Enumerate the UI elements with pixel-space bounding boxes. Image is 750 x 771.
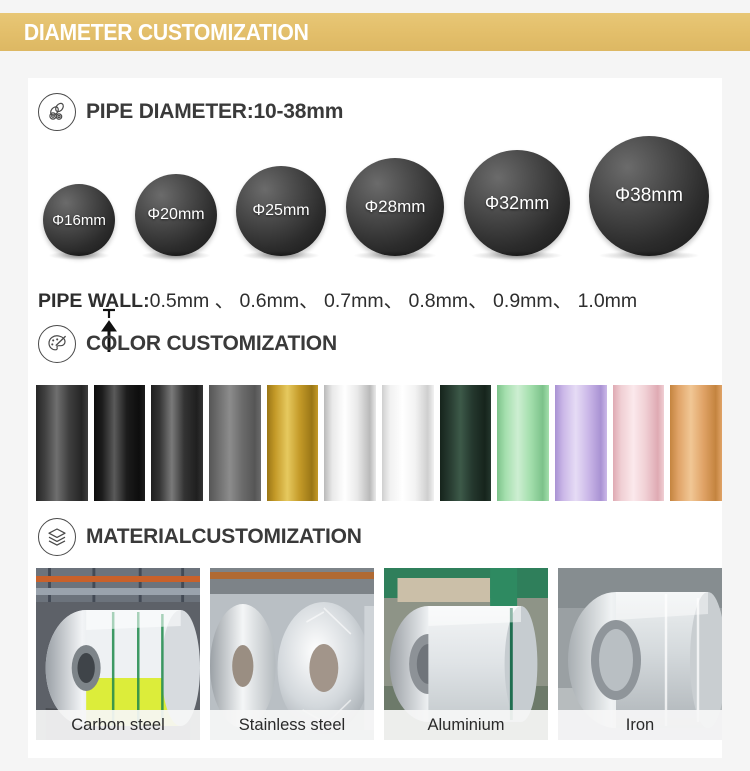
material-label: Stainless steel (210, 710, 374, 740)
pipe-wall-label: PIPE WALL: (38, 290, 150, 312)
color-swatch-dark-charcoal[interactable] (36, 385, 88, 501)
diameter-circle-25: Φ25mm (236, 166, 326, 256)
diameter-circle-row: Φ16mm Φ20mm Φ25mm Φ28mm (36, 126, 722, 256)
color-swatch-white[interactable] (382, 385, 434, 501)
color-swatch-lavender[interactable] (555, 385, 607, 501)
section-title-material: MATERIALCUSTOMIZATION (86, 525, 362, 549)
diameter-circle-32: Φ32mm (464, 150, 570, 256)
material-card[interactable]: Iron (558, 568, 722, 740)
diameter-label: Φ16mm (52, 212, 106, 229)
diameter-label: Φ20mm (147, 206, 204, 224)
pipe-circle-face: Φ20mm (135, 174, 217, 256)
material-label: Iron (558, 710, 722, 740)
pipe-circle-face: Φ32mm (464, 150, 570, 256)
page-title: DIAMETER CUSTOMIZATION (0, 19, 309, 46)
circle-shadow (142, 251, 211, 260)
material-label: Carbon steel (36, 710, 200, 740)
color-swatch-textured-gunmetal[interactable] (151, 385, 203, 501)
color-swatch-tan-copper[interactable] (670, 385, 722, 501)
page-header-banner: DIAMETER CUSTOMIZATION (0, 13, 750, 51)
pipe-circle-face: Φ16mm (43, 184, 115, 256)
diameter-label: Φ38mm (615, 185, 683, 207)
material-card[interactable]: Aluminium (384, 568, 548, 740)
circle-shadow (243, 251, 319, 260)
pipe-wall-values: 0.5mm 、 0.6mm、 0.7mm、 0.8mm、 0.9mm、 1.0m… (150, 290, 638, 312)
material-label: Aluminium (384, 710, 548, 740)
circle-shadow (599, 251, 700, 260)
diameter-circle-28: Φ28mm (346, 158, 444, 256)
color-swatch-row (36, 380, 722, 505)
diameter-circle-38: Φ38mm (589, 136, 709, 256)
material-card[interactable]: Stainless steel (210, 568, 374, 740)
section-title-diameter: PIPE DIAMETER:10-38mm (86, 100, 343, 124)
material-card[interactable]: Carbon steel (36, 568, 200, 740)
pipe-circle-face: Φ28mm (346, 158, 444, 256)
section-header-color: COLOR CUSTOMIZATION (38, 325, 337, 363)
diameter-label: Φ28mm (365, 197, 426, 217)
pipe-circle-face: Φ25mm (236, 166, 326, 256)
color-swatch-gold[interactable] (267, 385, 319, 501)
color-swatch-mid-gray[interactable] (209, 385, 261, 501)
diameter-circle-16: Φ16mm (43, 184, 115, 256)
pipe-circle-face: Φ38mm (589, 136, 709, 256)
section-header-material: MATERIALCUSTOMIZATION (38, 518, 362, 556)
color-swatch-pink[interactable] (613, 385, 665, 501)
diameter-label: Φ25mm (252, 202, 309, 220)
color-swatch-silver-white[interactable] (324, 385, 376, 501)
layers-icon (38, 518, 76, 556)
diameter-label: Φ32mm (485, 193, 549, 214)
palette-icon (38, 325, 76, 363)
diameter-circle-20: Φ20mm (135, 174, 217, 256)
content-panel: PIPE DIAMETER:10-38mm Φ16mm Φ20mm Φ25mm (28, 78, 722, 758)
color-swatch-mint-green[interactable] (497, 385, 549, 501)
circle-shadow (49, 251, 109, 260)
circle-shadow (354, 251, 436, 260)
color-swatch-black[interactable] (94, 385, 146, 501)
color-swatch-dark-green[interactable] (440, 385, 492, 501)
material-card-row: Carbon steel (36, 568, 722, 740)
section-title-color: COLOR CUSTOMIZATION (86, 332, 337, 356)
circle-shadow (472, 251, 561, 260)
pipe-wall-line: PIPE WALL:0.5mm 、 0.6mm、 0.7mm、 0.8mm、 0… (38, 284, 637, 313)
